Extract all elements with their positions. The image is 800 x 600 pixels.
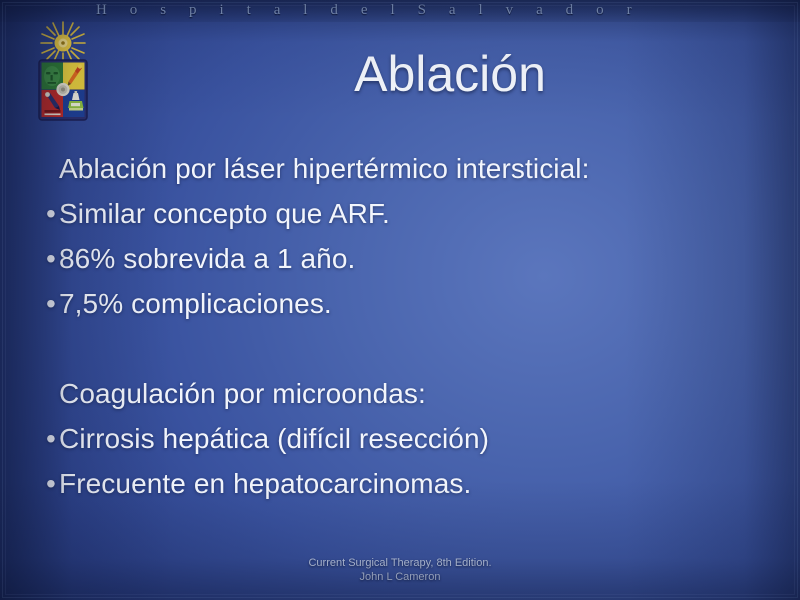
body-line-text: Cirrosis hepática (difícil resección) <box>59 423 489 454</box>
coat-of-arms-icon <box>33 20 93 124</box>
citation-title: Current Surgical Therapy, 8th Edition. <box>0 556 800 570</box>
body-line: •7,5% complicaciones. <box>46 281 746 326</box>
body-line: •Cirrosis hepática (difícil resección) <box>46 416 746 461</box>
body-line: •Similar concepto que ARF. <box>46 191 746 236</box>
body-line-text: 7,5% complicaciones. <box>59 288 332 319</box>
slide-body: Ablación por láser hipertérmico intersti… <box>46 146 746 506</box>
body-line-text: Coagulación por microondas: <box>59 378 426 409</box>
hospital-name-header: H o s p i t a l d e l S a l v a d o r <box>96 2 708 19</box>
citation-author: John L Cameron <box>0 570 800 584</box>
body-line-text: Frecuente en hepatocarcinomas. <box>59 468 471 499</box>
body-line-spacer <box>46 326 746 371</box>
body-line: Ablación por láser hipertérmico intersti… <box>46 146 746 191</box>
bullet-marker: • <box>46 461 59 506</box>
slide-title: Ablación <box>120 44 780 104</box>
body-line: Coagulación por microondas: <box>46 371 746 416</box>
sunburst-star-icon <box>41 22 85 64</box>
body-line-text: Similar concepto que ARF. <box>59 198 390 229</box>
source-citation: Current Surgical Therapy, 8th Edition. J… <box>0 556 800 584</box>
bullet-marker: • <box>46 191 59 236</box>
university-coat-of-arms-logo <box>33 20 93 124</box>
body-line: •86% sobrevida a 1 año. <box>46 236 746 281</box>
bullet-marker: • <box>46 236 59 281</box>
bullet-marker: • <box>46 416 59 461</box>
body-line: •Frecuente en hepatocarcinomas. <box>46 461 746 506</box>
body-line-text: Ablación por láser hipertérmico intersti… <box>59 153 590 184</box>
presentation-slide: H o s p i t a l d e l S a l v a d o r <box>0 0 800 600</box>
bullet-marker: • <box>46 281 59 326</box>
shield-icon <box>39 60 87 120</box>
body-line-text: 86% sobrevida a 1 año. <box>59 243 355 274</box>
